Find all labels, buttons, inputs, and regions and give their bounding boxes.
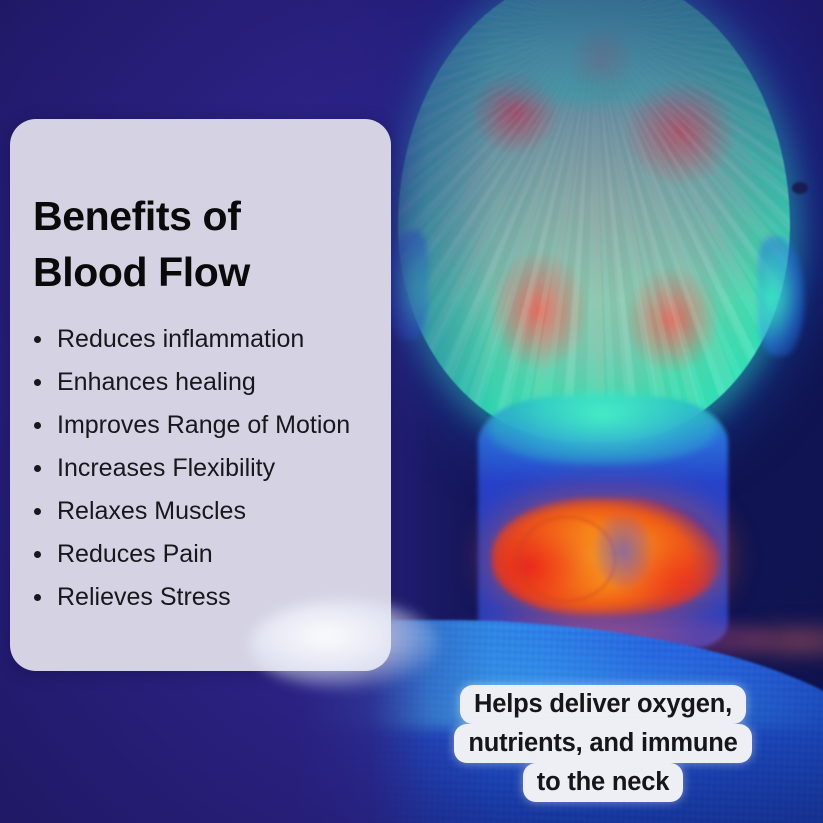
poster: Benefits of Blood Flow Reduces inflammat… (0, 0, 823, 823)
bullet-icon (34, 465, 41, 472)
list-item-label: Enhances healing (57, 368, 256, 396)
list-item: Improves Range of Motion (33, 404, 379, 447)
caption-line-2-text: nutrients, and immune (454, 724, 751, 763)
bullet-icon (34, 422, 41, 429)
bullet-icon (34, 379, 41, 386)
list-item-label: Improves Range of Motion (57, 411, 350, 439)
card-title: Benefits of Blood Flow (33, 188, 363, 300)
caption-line-2: nutrients, and immune (423, 724, 783, 763)
list-item: Enhances healing (33, 361, 379, 404)
caption-line-3-text: to the neck (523, 763, 683, 802)
bullet-icon (34, 594, 41, 601)
caption-line-1-text: Helps deliver oxygen, (460, 685, 746, 724)
bullet-icon (34, 336, 41, 343)
card-title-line-2: Blood Flow (33, 244, 363, 300)
list-item-label: Relieves Stress (57, 583, 231, 611)
list-item-label: Reduces Pain (57, 540, 213, 568)
list-item: Reduces inflammation (33, 318, 379, 361)
card-title-line-1: Benefits of (33, 188, 363, 244)
bullet-icon (34, 551, 41, 558)
list-item: Relaxes Muscles (33, 490, 379, 533)
benefits-list: Reduces inflammation Enhances healing Im… (33, 318, 379, 619)
list-item-label: Increases Flexibility (57, 454, 275, 482)
list-item-label: Relaxes Muscles (57, 497, 246, 525)
list-item-label: Reduces inflammation (57, 325, 304, 353)
caption-line-3: to the neck (423, 763, 783, 802)
list-item: Reduces Pain (33, 533, 379, 576)
list-item: Relieves Stress (33, 576, 379, 619)
caption-line-1: Helps deliver oxygen, (423, 685, 783, 724)
list-item: Increases Flexibility (33, 447, 379, 490)
bullet-icon (34, 508, 41, 515)
caption-block: Helps deliver oxygen, nutrients, and imm… (423, 685, 783, 802)
